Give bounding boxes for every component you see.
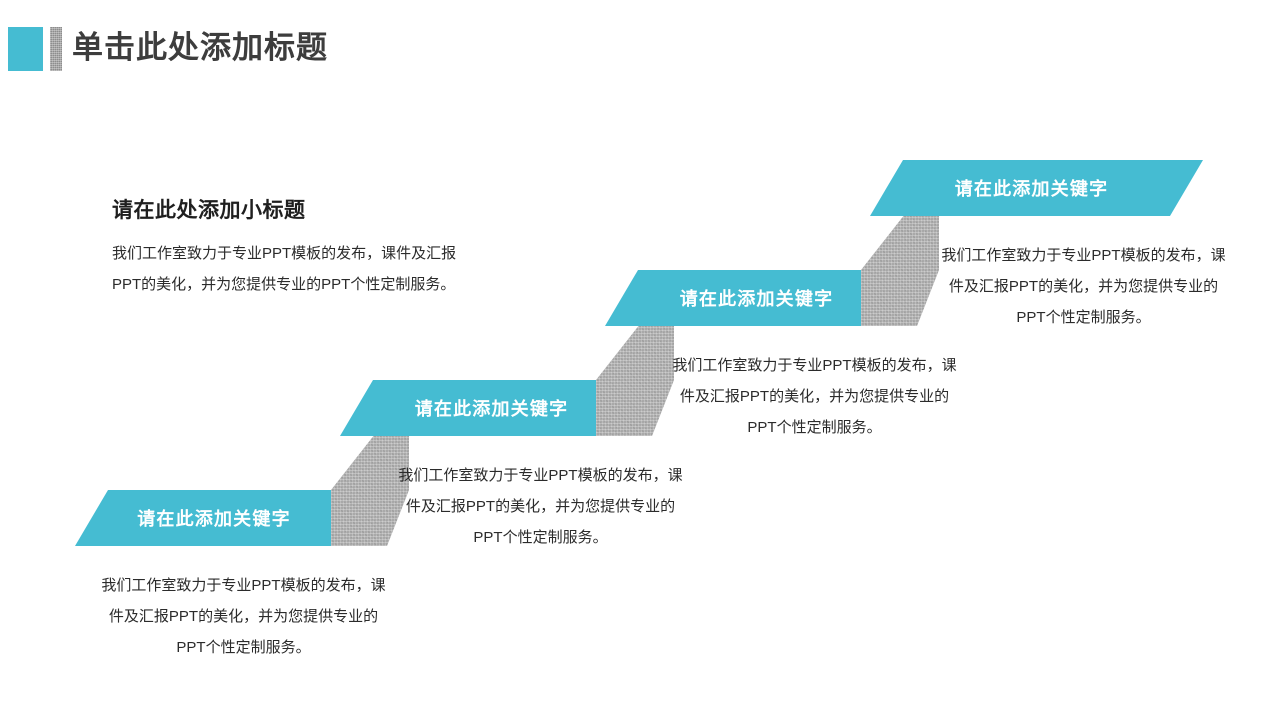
- step-3-label: 请在此添加关键字: [605, 285, 886, 311]
- step-3-riser: [861, 214, 939, 326]
- staircase-diagram: 请在此添加关键字 我们工作室致力于专业PPT模板的发布，课件及汇报PPT的美化，…: [0, 0, 1280, 720]
- step-3-description[interactable]: 我们工作室致力于专业PPT模板的发布，课件及汇报PPT的美化，并为您提供专业的P…: [672, 350, 957, 443]
- step-1-banner[interactable]: 请在此添加关键字: [75, 490, 331, 546]
- step-1-label: 请在此添加关键字: [75, 505, 331, 531]
- step-1-description[interactable]: 我们工作室致力于专业PPT模板的发布，课件及汇报PPT的美化，并为您提供专业的P…: [101, 570, 386, 663]
- step-2-banner[interactable]: 请在此添加关键字: [340, 380, 621, 436]
- step-3-banner[interactable]: 请在此添加关键字: [605, 270, 886, 326]
- step-4-description[interactable]: 我们工作室致力于专业PPT模板的发布，课件及汇报PPT的美化，并为您提供专业的P…: [941, 240, 1226, 333]
- step-2-label: 请在此添加关键字: [340, 395, 621, 421]
- slide-canvas: 单击此处添加标题 请在此处添加小标题 我们工作室致力于专业PPT模板的发布，课件…: [0, 0, 1280, 720]
- step-2-description[interactable]: 我们工作室致力于专业PPT模板的发布，课件及汇报PPT的美化，并为您提供专业的P…: [398, 460, 683, 553]
- step-4-banner[interactable]: 请在此添加关键字: [870, 160, 1203, 216]
- step-2-riser: [596, 324, 674, 436]
- step-4-label: 请在此添加关键字: [870, 175, 1203, 201]
